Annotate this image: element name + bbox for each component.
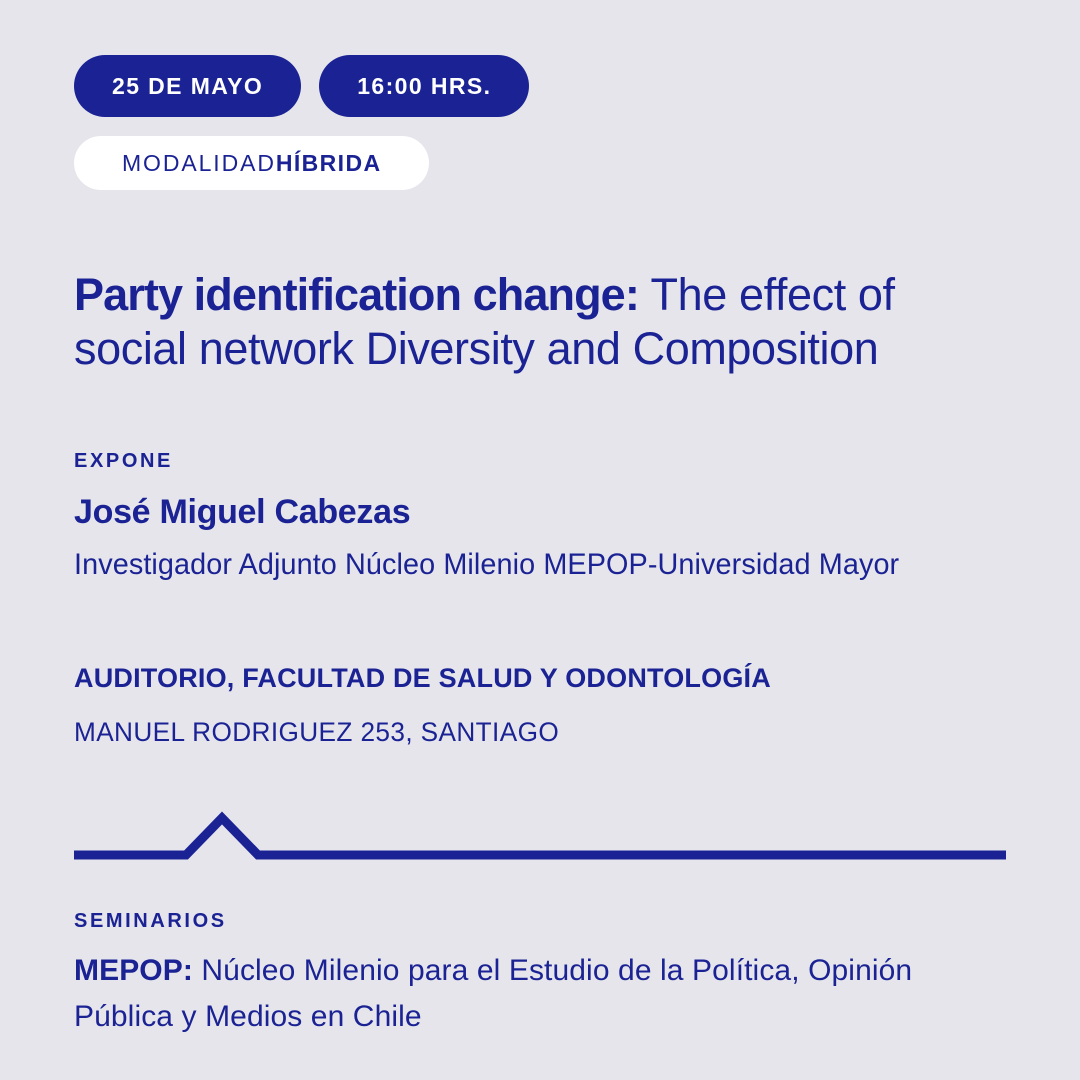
event-poster: 25 DE MAYO 16:00 HRS. MODALIDAD HÍBRIDA … — [0, 0, 1080, 1080]
venue-address: MANUEL RODRIGUEZ 253, SANTIAGO — [74, 717, 559, 748]
modality-value: HÍBRIDA — [276, 150, 382, 177]
title-bold-part: Party identification change: — [74, 269, 651, 320]
badge-row: 25 DE MAYO 16:00 HRS. — [74, 55, 529, 117]
venue-place: AUDITORIO, FACULTAD DE SALUD Y ODONTOLOG… — [74, 663, 771, 694]
page-title: Party identification change: The effect … — [74, 268, 1014, 376]
speaker-section-label: EXPONE — [74, 450, 173, 473]
speaker-affiliation: Investigador Adjunto Núcleo Milenio MEPO… — [74, 548, 899, 582]
peak-divider — [74, 810, 1006, 862]
footer-organization: MEPOP: Núcleo Milenio para el Estudio de… — [74, 948, 1014, 1040]
modality-label: MODALIDAD — [122, 150, 276, 177]
peak-divider-icon — [74, 810, 1006, 862]
footer-section-label: SEMINARIOS — [74, 910, 227, 933]
footer-org-description: Núcleo Milenio para el Estudio de la Pol… — [74, 954, 912, 1033]
speaker-name: José Miguel Cabezas — [74, 493, 410, 532]
footer-org-acronym: MEPOP: — [74, 954, 193, 987]
time-badge: 16:00 HRS. — [319, 55, 529, 117]
modality-badge: MODALIDAD HÍBRIDA — [74, 136, 429, 190]
date-badge: 25 DE MAYO — [74, 55, 301, 117]
